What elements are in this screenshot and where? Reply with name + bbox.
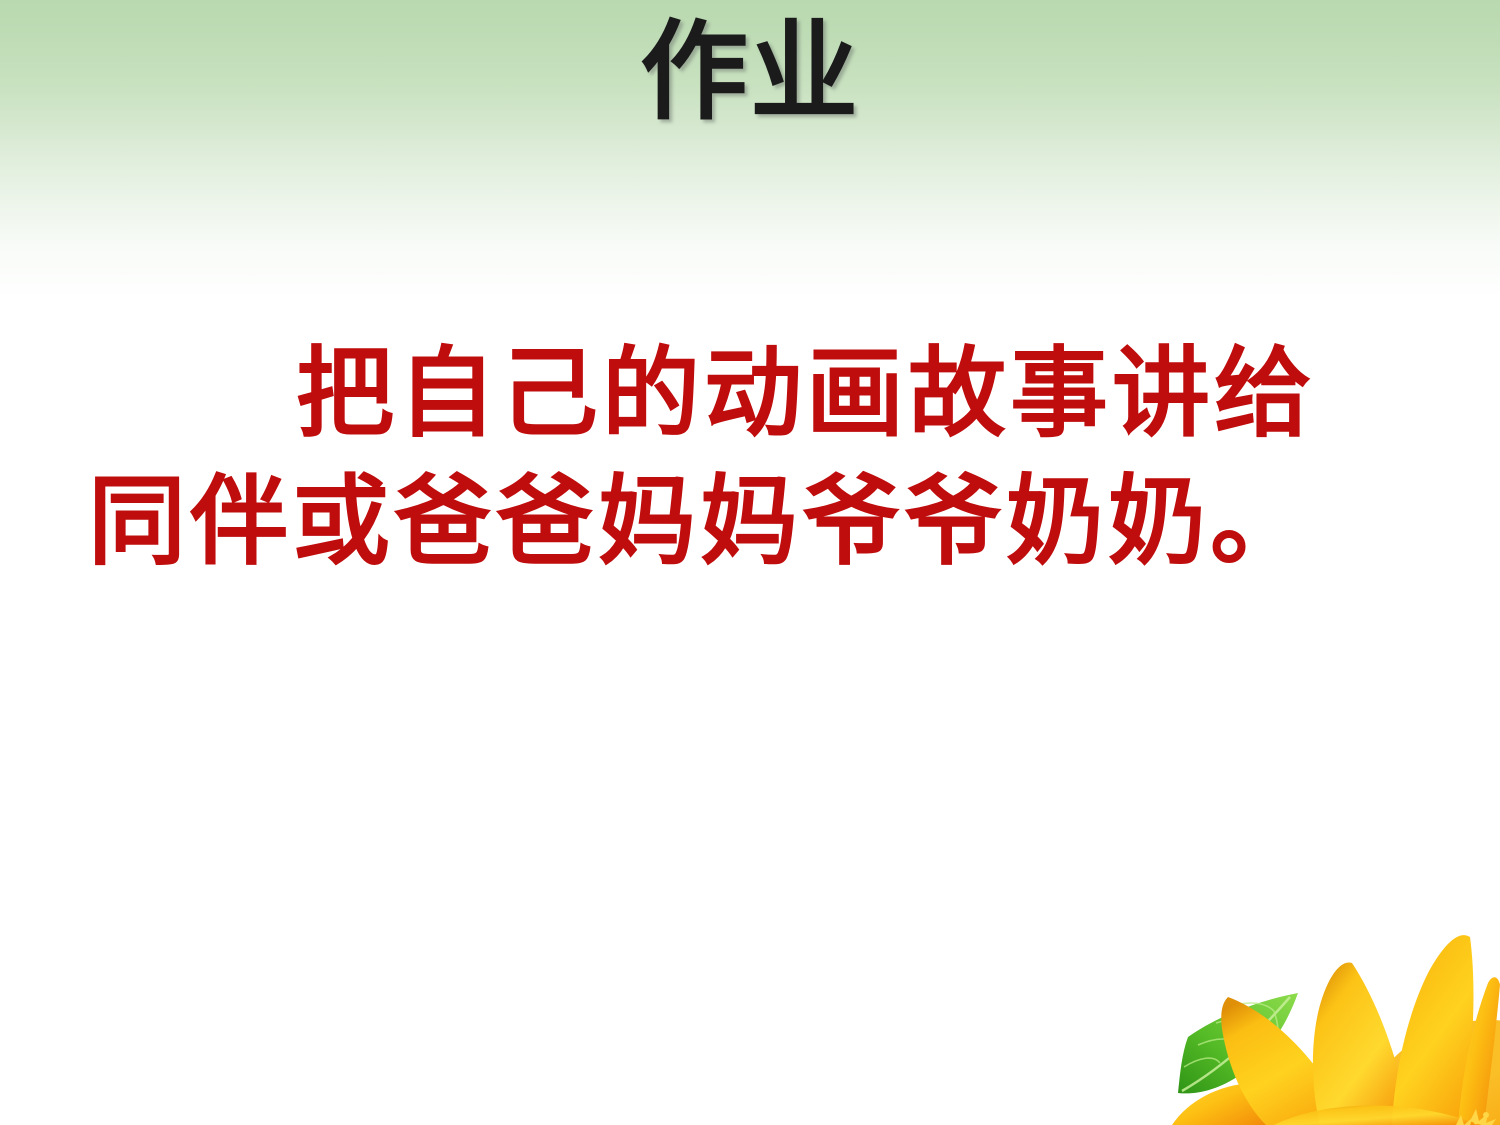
petal-group	[1172, 935, 1500, 1125]
petal-upper-left	[1221, 997, 1352, 1125]
leaf-shape	[1178, 993, 1298, 1093]
petal-far-right	[1458, 977, 1500, 1125]
sunflower-decoration	[1170, 925, 1500, 1125]
body-paragraph: 把自己的动画故事讲给同伴或爸爸妈妈爷爷奶奶。	[88, 330, 1408, 586]
floret-cluster	[1456, 1109, 1496, 1125]
flower-center-glow	[1365, 1020, 1500, 1125]
slide-canvas: 作业 把自己的动画故事讲给同伴或爸爸妈妈爷爷奶奶。	[0, 0, 1500, 1125]
petal-left-low	[1172, 1083, 1276, 1125]
petal-middle	[1313, 962, 1410, 1125]
page-title: 作业	[0, 10, 1500, 135]
petal-bottom-fill	[1274, 1106, 1478, 1125]
petal-right-tall	[1392, 935, 1473, 1125]
